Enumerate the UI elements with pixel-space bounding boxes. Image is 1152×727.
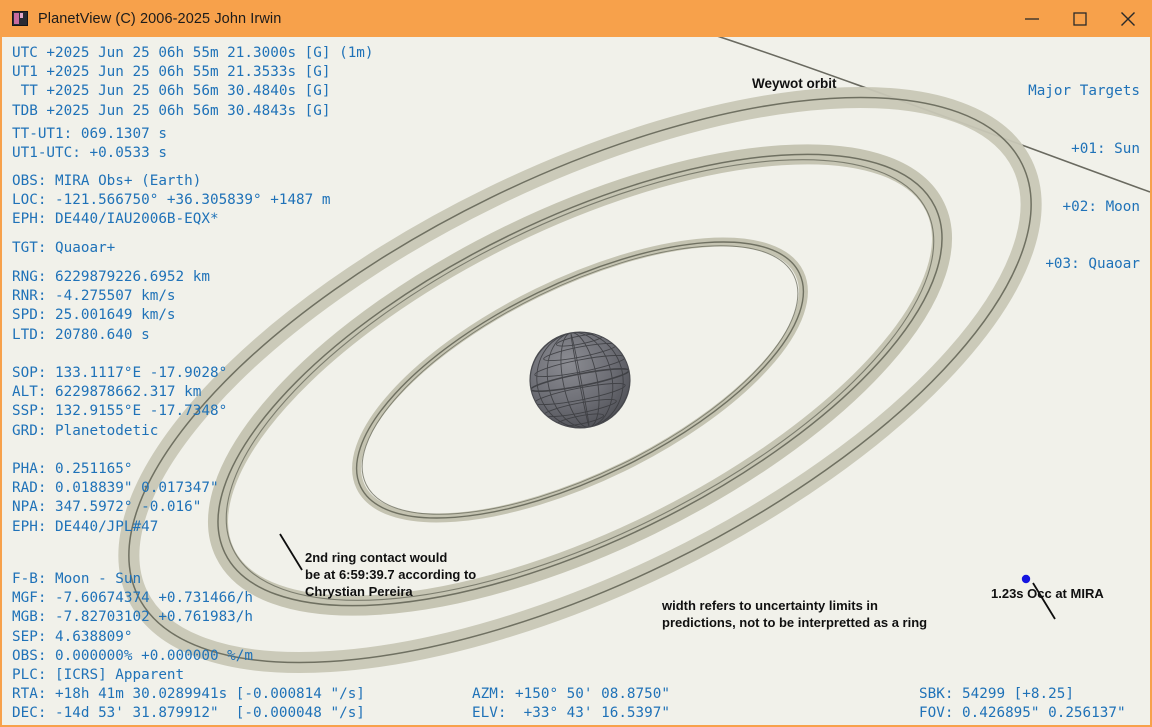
major-targets-panel: Major Targets +01: Sun +02: Moon +03: Qu…	[1028, 44, 1140, 313]
second-ring-contact-note: 2nd ring contact would be at 6:59:39.7 a…	[305, 549, 476, 600]
place-coordinates-block: PLC: [ICRS] Apparent RTA: +18h 41m 30.02…	[12, 666, 365, 724]
window-title: PlanetView (C) 2006-2025 John Irwin	[38, 11, 281, 27]
major-targets-header: Major Targets	[1028, 82, 1140, 101]
range-block: RNG: 6229879226.6952 km RNR: -4.275507 k…	[12, 268, 210, 345]
minimize-icon[interactable]	[1008, 0, 1056, 37]
target-block: TGT: Quaoar+	[12, 239, 115, 258]
maximize-icon[interactable]	[1056, 0, 1104, 37]
occultation-point-marker	[1022, 575, 1030, 583]
planetview-window: PlanetView (C) 2006-2025 John Irwin	[0, 0, 1152, 727]
ring-width-note: width refers to uncertainty limits in pr…	[662, 597, 927, 631]
weywot-orbit-label: Weywot orbit	[752, 75, 837, 92]
close-icon[interactable]	[1104, 0, 1152, 37]
major-target-item-quaoar[interactable]: +03: Quaoar	[1028, 255, 1140, 274]
leader-line-ring-contact	[280, 534, 302, 570]
time-telemetry-block: UTC +2025 Jun 25 06h 55m 21.3000s [G] (1…	[12, 44, 374, 121]
major-target-item-moon[interactable]: +02: Moon	[1028, 198, 1140, 217]
occultation-label: 1.23s Occ at MIRA	[991, 585, 1104, 602]
subpoint-block: SOP: 133.1117°E -17.9028° ALT: 622987866…	[12, 364, 227, 441]
window-controls	[1008, 0, 1152, 37]
azimuth-elevation-block: AZM: +150° 50' 08.8750" ELV: +33° 43' 16…	[472, 685, 670, 723]
planetview-app-icon	[12, 11, 28, 26]
field-brightness-block: F-B: Moon - Sun MGF: -7.60674374 +0.7314…	[12, 570, 253, 666]
planet-quaoar	[522, 323, 638, 436]
major-target-item-sun[interactable]: +01: Sun	[1028, 140, 1140, 159]
title-bar: PlanetView (C) 2006-2025 John Irwin	[0, 0, 1152, 37]
observer-block: OBS: MIRA Obs+ (Earth) LOC: -121.566750°…	[12, 172, 330, 230]
client-area: UTC +2025 Jun 25 06h 55m 21.3000s [G] (1…	[0, 37, 1152, 727]
delta-t-block: TT-UT1: 069.1307 s UT1-UTC: +0.0533 s	[12, 125, 167, 163]
phase-block: PHA: 0.251165° RAD: 0.018839" 0.017347" …	[12, 460, 219, 537]
sky-background-block: SBK: 54299 [+8.25] FOV: 0.426895" 0.2561…	[919, 685, 1126, 723]
